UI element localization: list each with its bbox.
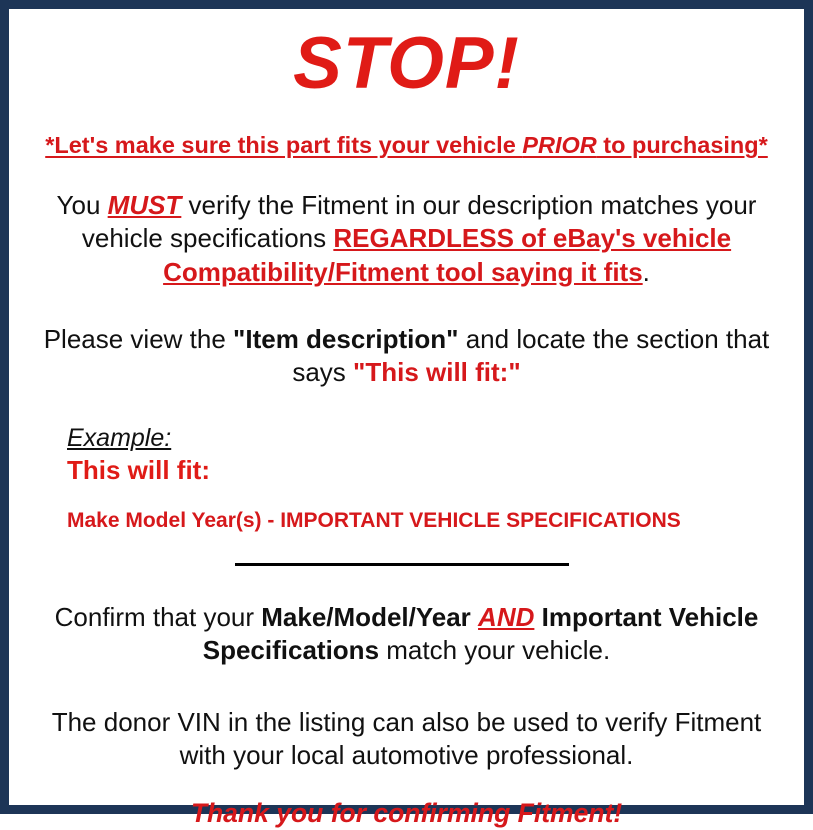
paragraph-donor-vin: The donor VIN in the listing can also be… <box>21 706 792 773</box>
example-block: Example: This will fit: Make Model Year(… <box>21 425 792 533</box>
confirm-space-1 <box>471 602 478 632</box>
subheading-prefix: *Let's make sure this part fits your veh… <box>45 132 522 158</box>
page-title: STOP! <box>21 27 792 100</box>
make-model-year-emphasis: Make/Model/Year <box>261 602 471 632</box>
please-text-part1: Please view the <box>44 324 233 354</box>
must-text-part3: . <box>643 257 650 287</box>
paragraph-item-description: Please view the "Item description" and l… <box>21 323 792 390</box>
example-label: Example: <box>67 425 792 453</box>
example-spec-line: Make Model Year(s) - IMPORTANT VEHICLE S… <box>67 508 792 533</box>
subheading-suffix: to purchasing* <box>597 132 768 158</box>
confirm-text-part2: match your vehicle. <box>379 635 610 665</box>
item-description-emphasis: "Item description" <box>233 324 458 354</box>
paragraph-must-verify: You MUST verify the Fitment in our descr… <box>21 189 792 289</box>
and-emphasis: AND <box>478 602 534 632</box>
subheading-banner: *Let's make sure this part fits your veh… <box>21 132 792 159</box>
notice-content: STOP! *Let's make sure this part fits yo… <box>21 27 792 823</box>
thank-you-message: Thank you for confirming Fitment! <box>21 798 792 830</box>
horizontal-divider <box>235 563 569 566</box>
must-text-part1: You <box>57 190 108 220</box>
confirm-text-part1: Confirm that your <box>55 602 262 632</box>
fitment-notice-card: STOP! *Let's make sure this part fits yo… <box>0 0 813 814</box>
divider-container <box>21 557 792 571</box>
confirm-space-2 <box>534 602 541 632</box>
this-will-fit-emphasis: "This will fit:" <box>353 357 521 387</box>
must-emphasis: MUST <box>108 190 182 220</box>
example-fit-header: This will fit: <box>67 455 792 486</box>
paragraph-confirm: Confirm that your Make/Model/Year AND Im… <box>21 601 792 668</box>
subheading-emphasis: PRIOR <box>522 132 596 158</box>
